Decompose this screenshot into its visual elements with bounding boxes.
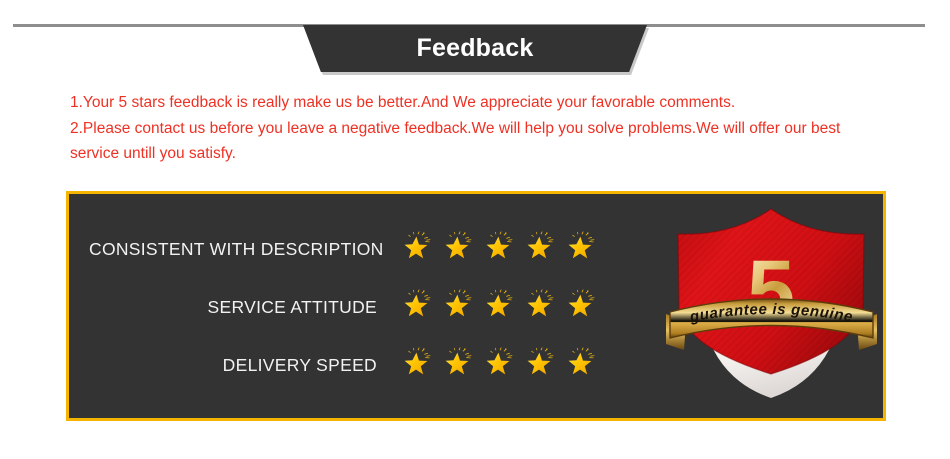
star-icon <box>399 231 435 267</box>
guarantee-shield-badge: 5 guarantee is genuine <box>664 198 879 403</box>
notice-line-1: 1.Your 5 stars feedback is really make u… <box>70 90 890 116</box>
rating-label: SERVICE ATTITUDE <box>89 297 399 318</box>
rating-stars-delivery-speed <box>399 347 599 383</box>
ratings-list: CONSISTENT WITH DESCRIPTION SERVICE ATTI… <box>89 220 649 394</box>
feedback-page: Feedback 1.Your 5 stars feedback is real… <box>0 0 950 459</box>
star-icon <box>440 347 476 383</box>
rating-row: DELIVERY SPEED <box>89 336 649 394</box>
ratings-panel: CONSISTENT WITH DESCRIPTION SERVICE ATTI… <box>66 191 886 421</box>
page-title: Feedback <box>417 25 534 72</box>
rating-row: SERVICE ATTITUDE <box>89 278 649 336</box>
rating-stars-service-attitude <box>399 289 599 325</box>
star-icon <box>563 231 599 267</box>
star-icon <box>481 347 517 383</box>
star-icon <box>440 231 476 267</box>
rating-row: CONSISTENT WITH DESCRIPTION <box>89 220 649 278</box>
page-header: Feedback <box>0 0 950 80</box>
star-icon <box>481 289 517 325</box>
star-icon <box>481 231 517 267</box>
header-tab: Feedback <box>303 25 647 72</box>
star-icon <box>522 289 558 325</box>
notice-line-2: 2.Please contact us before you leave a n… <box>70 116 890 167</box>
star-icon <box>399 289 435 325</box>
star-icon <box>563 289 599 325</box>
feedback-notice: 1.Your 5 stars feedback is really make u… <box>70 90 890 167</box>
rating-label: DELIVERY SPEED <box>89 355 399 376</box>
rating-stars-consistent-with-description <box>399 231 599 267</box>
star-icon <box>399 347 435 383</box>
star-icon <box>440 289 476 325</box>
star-icon <box>522 231 558 267</box>
star-icon <box>522 347 558 383</box>
star-icon <box>563 347 599 383</box>
rating-label: CONSISTENT WITH DESCRIPTION <box>89 239 399 260</box>
